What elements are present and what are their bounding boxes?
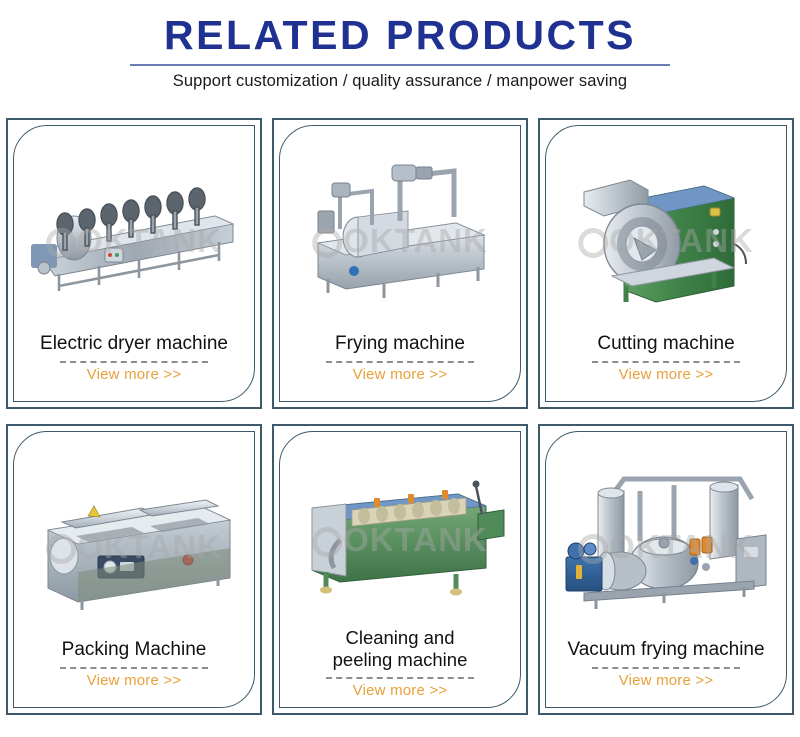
section-header: RELATED PRODUCTS Support customization /… [0,0,800,91]
product-card-cutting-machine[interactable]: OKTANK Cutting machine View more >> [538,118,794,409]
card-inner-frame: OKTANK Packing Machine View more >> [13,431,255,708]
view-more-link[interactable]: View more >> [353,682,448,699]
view-more-link[interactable]: View more >> [87,672,182,689]
packing-machine-icon [22,460,247,610]
product-title: Cleaning and peeling machine [333,627,468,671]
card-caption: Electric dryer machine View more >> [14,331,254,401]
product-title: Cutting machine [597,333,734,355]
card-inner-frame: OKTANK Cleaning and peeling machine View… [279,431,521,708]
card-caption: Frying machine View more >> [280,331,520,401]
product-title: Electric dryer machine [40,333,228,355]
product-image-cutting-machine: OKTANK [546,126,786,331]
card-caption: Cutting machine View more >> [546,331,786,401]
caption-divider [326,677,474,679]
card-caption: Packing Machine View more >> [14,637,254,707]
product-title: Frying machine [335,333,465,355]
product-card-frying-machine[interactable]: OKTANK Frying machine View more >> [272,118,528,409]
product-title: Packing Machine [62,639,207,661]
product-image-cleaning-and-peeling-machine: OKTANK [280,432,520,625]
cleaning-and-peeling-machine-icon [290,456,510,601]
product-card-electric-dryer-machine[interactable]: OKTANK Electric dryer machine View more … [6,118,262,409]
caption-divider [60,667,208,669]
cutting-machine-icon [564,146,769,311]
view-more-link[interactable]: View more >> [353,366,448,383]
page-subtitle: Support customization / quality assuranc… [0,72,800,91]
card-caption: Cleaning and peeling machine View more >… [280,625,520,707]
card-inner-frame: OKTANK Cutting machine View more >> [545,125,787,402]
card-inner-frame: OKTANK Vacuum frying machine View more >… [545,431,787,708]
view-more-link[interactable]: View more >> [619,672,714,689]
product-image-vacuum-frying-machine: OKTANK [546,432,786,637]
frying-machine-icon [288,151,513,306]
product-card-packing-machine[interactable]: OKTANK Packing Machine View more >> [6,424,262,715]
product-image-packing-machine: OKTANK [14,432,254,637]
view-more-link[interactable]: View more >> [619,366,714,383]
card-inner-frame: OKTANK Electric dryer machine View more … [13,125,255,402]
product-grid: OKTANK Electric dryer machine View more … [6,118,794,715]
product-card-vacuum-frying-machine[interactable]: OKTANK Vacuum frying machine View more >… [538,424,794,715]
card-inner-frame: OKTANK Frying machine View more >> [279,125,521,402]
header-divider [130,64,670,66]
product-title-line-1: Cleaning and [333,627,468,649]
product-image-frying-machine: OKTANK [280,126,520,331]
caption-divider [592,361,740,363]
caption-divider [592,667,740,669]
card-caption: Vacuum frying machine View more >> [546,637,786,707]
caption-divider [60,361,208,363]
electric-dryer-machine-icon [19,154,249,304]
caption-divider [326,361,474,363]
page-title: RELATED PRODUCTS [0,14,800,57]
related-products-section: RELATED PRODUCTS Support customization /… [0,0,800,737]
product-title-line-2: peeling machine [333,649,468,671]
product-card-cleaning-and-peeling-machine[interactable]: OKTANK Cleaning and peeling machine View… [272,424,528,715]
view-more-link[interactable]: View more >> [87,366,182,383]
vacuum-frying-machine-icon [554,455,779,615]
product-image-electric-dryer-machine: OKTANK [14,126,254,331]
product-title: Vacuum frying machine [567,639,764,661]
